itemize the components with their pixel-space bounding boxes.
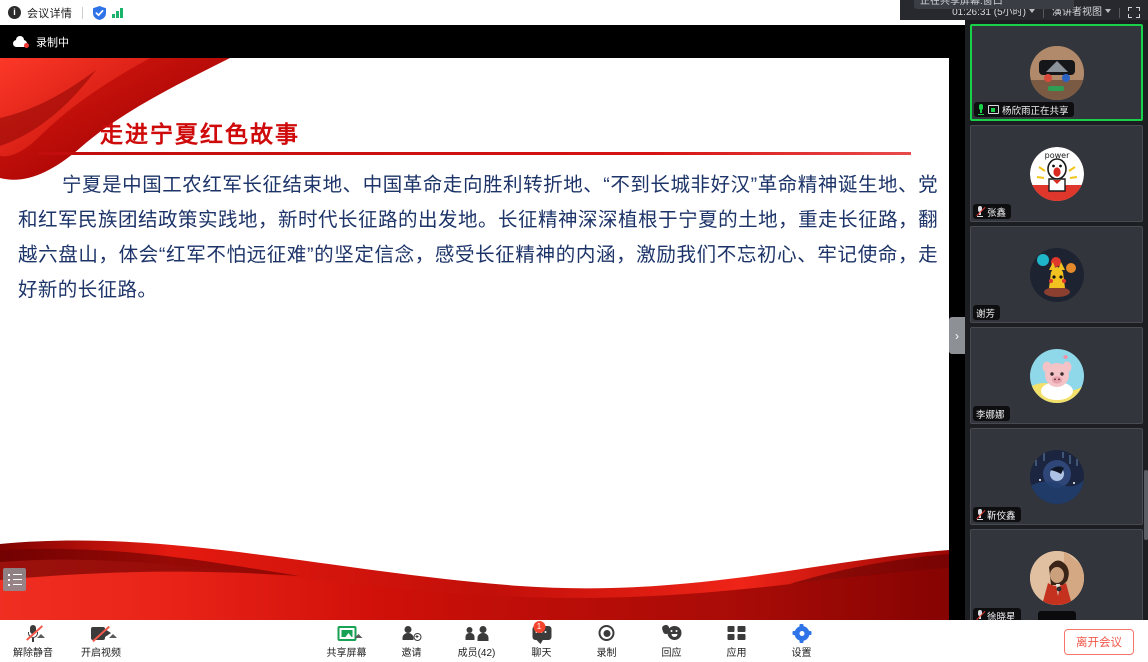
participant-nametag: 谢芳 (973, 305, 1000, 320)
meeting-controls-bar: 解除静音 开启视频 共享屏幕 (0, 620, 1148, 662)
share-screen-button[interactable]: 共享屏幕 (324, 623, 370, 659)
slide-title-rule (38, 152, 911, 155)
avatar (1030, 46, 1084, 100)
chevron-up-icon[interactable] (109, 634, 117, 638)
control-label: 回应 (662, 644, 682, 659)
control-label: 录制 (597, 644, 617, 659)
video-toggle-button[interactable]: 开启视频 (78, 623, 124, 659)
slide-title: 走进宁夏红色故事 (100, 115, 300, 149)
chat-button[interactable]: 1 聊天 (519, 623, 565, 659)
participant-nametag: 张鑫 (973, 204, 1011, 219)
record-icon (599, 623, 615, 643)
apps-button[interactable]: 应用 (714, 623, 760, 659)
participant-tile[interactable]: 李娜娜 (970, 327, 1143, 424)
screen-share-icon (988, 105, 999, 114)
participants-icon (466, 623, 487, 643)
slide-body-paragraph: 宁夏是中国工农红军长征结束地、中国革命走向胜利转折地、“不到长城非好汉”革命精神… (18, 174, 938, 301)
mic-on-icon (977, 104, 985, 115)
red-wave-decoration-icon (0, 510, 949, 620)
participant-name: 谢芳 (976, 306, 995, 320)
avatar (1030, 349, 1084, 403)
control-label: 设置 (792, 644, 812, 659)
cloud-recording-icon (13, 36, 30, 48)
slide-list-icon[interactable] (3, 568, 26, 591)
control-label: 开启视频 (81, 644, 121, 659)
fullscreen-icon[interactable] (1128, 7, 1140, 18)
meeting-window: i 会议详情 正在共享屏幕:窗口 01:26:31 (5小时) 演讲者视图 (0, 0, 1148, 662)
mic-muted-icon (976, 206, 984, 217)
divider (82, 7, 83, 19)
participant-panel: 杨欣雨正在共享 power 张鑫 谢芳 (965, 20, 1148, 620)
participant-tile[interactable]: 杨欣雨正在共享 (970, 24, 1143, 121)
recording-indicator-bar: 录制中 (0, 25, 965, 58)
record-button[interactable]: 录制 (584, 623, 630, 659)
participant-tile[interactable]: power 张鑫 (970, 125, 1143, 222)
participant-nametag: 李娜娜 (973, 406, 1010, 421)
control-label: 邀请 (402, 644, 422, 659)
participant-tile[interactable]: 徐晓星 ⌄ (970, 529, 1143, 626)
participant-tile[interactable]: 靳佼鑫 (970, 428, 1143, 525)
panel-collapse-handle[interactable]: › (949, 317, 965, 354)
participant-nametag: 靳佼鑫 (973, 507, 1021, 522)
chevron-up-icon[interactable] (37, 634, 45, 638)
participant-name: 李娜娜 (976, 407, 1005, 421)
participant-name: 杨欣雨正在共享 (1002, 103, 1069, 117)
presentation-slide: 走进宁夏红色故事 宁夏是中国工农红军长征结束地、中国革命走向胜利转折地、“不到长… (0, 58, 949, 620)
chevron-up-icon[interactable] (354, 634, 362, 638)
avatar (1030, 450, 1084, 504)
leave-meeting-button[interactable]: 离开会议 (1064, 629, 1134, 655)
signal-strength-icon[interactable] (112, 7, 123, 18)
mute-toggle-button[interactable]: 解除静音 (10, 623, 56, 659)
controls-left-group: 解除静音 开启视频 (10, 623, 124, 659)
control-label: 聊天 (532, 644, 552, 659)
invite-button[interactable]: 邀请 (389, 623, 435, 659)
chevron-down-icon[interactable] (1029, 9, 1035, 13)
info-icon[interactable]: i (8, 6, 21, 19)
settings-button[interactable]: 设置 (779, 623, 825, 659)
control-label: 成员(42) (458, 644, 496, 659)
chevron-down-icon[interactable] (1105, 9, 1111, 13)
divider (1119, 8, 1120, 18)
sharing-banner-label: 正在共享屏幕:窗口 (920, 0, 1003, 7)
participants-button[interactable]: 成员(42) (454, 623, 500, 659)
svg-text:power: power (1044, 151, 1069, 160)
recording-label: 录制中 (36, 34, 69, 50)
meeting-details-label[interactable]: 会议详情 (27, 5, 72, 21)
reactions-button[interactable]: 回应 (649, 623, 695, 659)
slide-body-text: 宁夏是中国工农红军长征结束地、中国革命走向胜利转折地、“不到长城非好汉”革命精神… (18, 168, 938, 308)
mic-muted-icon (27, 623, 39, 643)
top-right-toolbar: 正在共享屏幕:窗口 01:26:31 (5小时) 演讲者视图 (900, 0, 1148, 20)
controls-center-group: 共享屏幕 邀请 成员(42) 1 聊天 (324, 623, 825, 659)
apps-icon (728, 623, 746, 643)
mic-muted-icon (976, 509, 984, 520)
camera-off-icon (91, 623, 111, 643)
participant-panel-scrollbar[interactable] (1144, 470, 1148, 540)
participant-nametag: 杨欣雨正在共享 (974, 102, 1074, 117)
control-label: 应用 (727, 644, 747, 659)
avatar (1030, 248, 1084, 302)
invite-icon (402, 623, 421, 643)
shared-screen-stage: 录制中 走进宁夏红色故事 宁夏是中国工农红军 (0, 25, 965, 620)
participant-name: 靳佼鑫 (987, 508, 1016, 522)
avatar (1030, 551, 1084, 605)
avatar: power (1030, 147, 1084, 201)
divider (1043, 8, 1044, 18)
meeting-status-bar: i 会议详情 (0, 0, 965, 25)
control-label: 共享屏幕 (327, 644, 367, 659)
share-screen-icon (337, 623, 356, 643)
reactions-icon (662, 623, 681, 643)
chat-icon: 1 (532, 623, 551, 643)
settings-gear-icon (793, 623, 810, 643)
participant-name: 张鑫 (987, 205, 1006, 219)
participant-tile[interactable]: 谢芳 (970, 226, 1143, 323)
shield-check-icon[interactable] (93, 6, 106, 20)
sharing-banner: 正在共享屏幕:窗口 (914, 0, 1074, 9)
control-label: 解除静音 (13, 644, 53, 659)
chat-unread-badge: 1 (533, 621, 545, 633)
